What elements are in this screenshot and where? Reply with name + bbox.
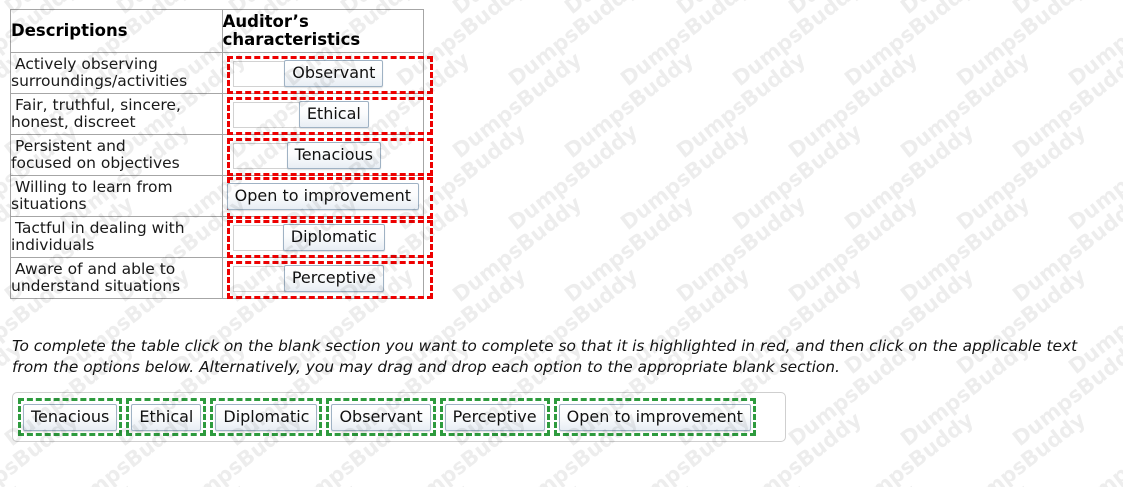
watermark-text: DumpsBuddy <box>1008 48 1123 163</box>
watermark-text: DumpsBuddy <box>560 48 698 163</box>
watermark-text: DumpsBuddy <box>896 0 1034 19</box>
description-line1: Aware of and able to <box>11 261 222 279</box>
table-row: Actively observingsurroundings/activitie… <box>11 53 424 94</box>
column-header-characteristics-line2: characteristics <box>223 30 361 49</box>
watermark-text: DumpsBuddy <box>784 48 922 163</box>
watermark-text: DumpsBuddy <box>1064 408 1123 487</box>
table-row: Tactful in dealing withindividualsDiplom… <box>11 217 424 258</box>
option-button[interactable]: Tenacious <box>23 404 117 431</box>
description-cell: Fair, truthful, sincere,honest, discreet <box>11 94 223 135</box>
description-line2: understand situations <box>11 278 222 296</box>
answer-button-wrap: Perceptive <box>223 258 423 298</box>
watermark-text: DumpsBuddy <box>560 0 698 19</box>
option-button[interactable]: Diplomatic <box>215 404 317 431</box>
answer-button-wrap: Ethical <box>223 94 423 134</box>
watermark-text: DumpsBuddy <box>224 480 362 487</box>
option-button[interactable]: Observant <box>331 404 430 431</box>
description-line2: individuals <box>11 237 222 255</box>
watermark-text: DumpsBuddy <box>448 480 586 487</box>
description-cell: Aware of and able tounderstand situation… <box>11 258 223 299</box>
watermark-text: DumpsBuddy <box>0 480 26 487</box>
auditor-characteristics-table: Descriptions Auditor’s characteristics A… <box>10 9 424 299</box>
table-row: Fair, truthful, sincere,honest, discreet… <box>11 94 424 135</box>
instructions-text: To complete the table click on the blank… <box>12 336 1102 379</box>
answer-button[interactable]: Perceptive <box>284 265 384 292</box>
answer-button[interactable]: Tenacious <box>287 142 381 169</box>
answer-cell[interactable]: Ethical <box>222 94 423 135</box>
watermark-text: DumpsBuddy <box>448 48 586 163</box>
option-highlight-box: Perceptive <box>440 398 550 436</box>
column-header-characteristics: Auditor’s characteristics <box>222 10 423 53</box>
table-row: Willing to learn fromsituationsOpen to i… <box>11 176 424 217</box>
option-highlight-box: Observant <box>326 398 435 436</box>
watermark-text: DumpsBuddy <box>896 48 1034 163</box>
watermark-text: DumpsBuddy <box>336 480 474 487</box>
watermark-text: DumpsBuddy <box>672 48 810 163</box>
column-header-descriptions: Descriptions <box>11 10 223 53</box>
answer-button-wrap: Tenacious <box>223 135 423 175</box>
description-line1: Tactful in dealing with <box>11 220 222 238</box>
watermark-text: DumpsBuddy <box>952 0 1090 91</box>
watermark-text: DumpsBuddy <box>1008 192 1123 307</box>
answer-cell[interactable]: Observant <box>222 53 423 94</box>
description-cell: Tactful in dealing withindividuals <box>11 217 223 258</box>
option-highlight-box: Ethical <box>126 398 206 436</box>
answer-cell[interactable]: Perceptive <box>222 258 423 299</box>
watermark-text: DumpsBuddy <box>448 192 586 307</box>
option-button[interactable]: Open to improvement <box>559 404 751 431</box>
option-highlight-box: Open to improvement <box>554 398 756 436</box>
watermark-text: DumpsBuddy <box>616 0 754 91</box>
watermark-text: DumpsBuddy <box>896 480 1034 487</box>
option-button[interactable]: Perceptive <box>445 404 545 431</box>
description-line1: Persistent and <box>11 138 222 156</box>
watermark-text: DumpsBuddy <box>952 408 1090 487</box>
answer-cell[interactable]: Diplomatic <box>222 217 423 258</box>
watermark-text: DumpsBuddy <box>504 120 642 235</box>
watermark-text: DumpsBuddy <box>1008 480 1123 487</box>
column-header-characteristics-line1: Auditor’s <box>223 12 309 31</box>
description-line2: situations <box>11 196 222 214</box>
answer-button-wrap: Open to improvement <box>223 176 423 216</box>
watermark-text: DumpsBuddy <box>112 480 250 487</box>
watermark-text: DumpsBuddy <box>784 0 922 19</box>
watermark-text: DumpsBuddy <box>728 120 866 235</box>
table-row: Aware of and able tounderstand situation… <box>11 258 424 299</box>
watermark-text: DumpsBuddy <box>784 480 922 487</box>
watermark-text: DumpsBuddy <box>728 0 866 91</box>
watermark-text: DumpsBuddy <box>840 120 978 235</box>
watermark-text: DumpsBuddy <box>1064 120 1123 235</box>
answer-button-wrap: Observant <box>223 53 423 93</box>
answer-cell[interactable]: Open to improvement <box>222 176 423 217</box>
watermark-text: DumpsBuddy <box>0 480 138 487</box>
description-line1: Actively observing <box>11 56 222 74</box>
description-cell: Persistent andfocused on objectives <box>11 135 223 176</box>
watermark-text: DumpsBuddy <box>672 192 810 307</box>
description-line2: focused on objectives <box>11 155 222 173</box>
option-highlight-box: Tenacious <box>18 398 122 436</box>
watermark-text: DumpsBuddy <box>840 408 978 487</box>
options-list: TenaciousEthicalDiplomaticObservantPerce… <box>18 397 756 437</box>
answer-button[interactable]: Diplomatic <box>283 224 385 251</box>
watermark-text: DumpsBuddy <box>560 480 698 487</box>
watermark-text: DumpsBuddy <box>896 192 1034 307</box>
watermark-text: DumpsBuddy <box>840 0 978 91</box>
watermark-text: DumpsBuddy <box>560 192 698 307</box>
watermark-text: DumpsBuddy <box>672 0 810 19</box>
option-button[interactable]: Ethical <box>131 404 201 431</box>
description-line2: surroundings/activities <box>11 73 222 91</box>
answer-button[interactable]: Observant <box>284 60 383 87</box>
option-highlight-box: Diplomatic <box>210 398 322 436</box>
options-tray: TenaciousEthicalDiplomaticObservantPerce… <box>12 392 786 442</box>
watermark-text: DumpsBuddy <box>616 120 754 235</box>
description-cell: Willing to learn fromsituations <box>11 176 223 217</box>
answer-cell[interactable]: Tenacious <box>222 135 423 176</box>
description-line1: Fair, truthful, sincere, <box>11 97 222 115</box>
description-line2: honest, discreet <box>11 114 222 132</box>
watermark-text: DumpsBuddy <box>952 120 1090 235</box>
watermark-text: DumpsBuddy <box>784 192 922 307</box>
watermark-text: DumpsBuddy <box>504 0 642 91</box>
instructions-line1: To complete the table click on the blank… <box>12 337 958 355</box>
watermark-text: DumpsBuddy <box>1064 0 1123 91</box>
description-cell: Actively observingsurroundings/activitie… <box>11 53 223 94</box>
watermark-text: DumpsBuddy <box>1008 0 1123 19</box>
table-header-row: Descriptions Auditor’s characteristics <box>11 10 424 53</box>
watermark-text: DumpsBuddy <box>448 0 586 19</box>
watermark-text: DumpsBuddy <box>672 480 810 487</box>
answer-button[interactable]: Open to improvement <box>227 183 419 210</box>
answer-button-wrap: Diplomatic <box>223 217 423 257</box>
table-row: Persistent andfocused on objectivesTenac… <box>11 135 424 176</box>
answer-button[interactable]: Ethical <box>299 101 369 128</box>
description-line1: Willing to learn from <box>11 179 222 197</box>
